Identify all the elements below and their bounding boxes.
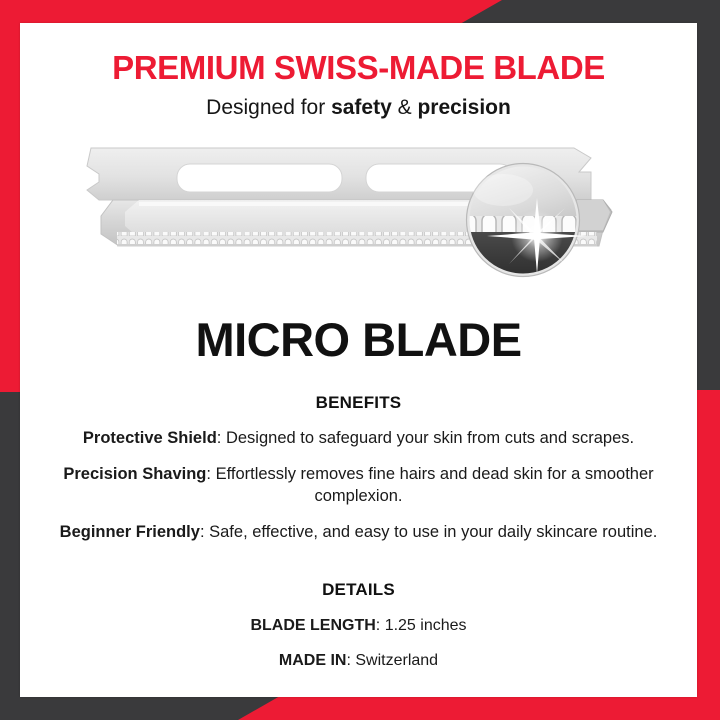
detail-item: MADE IN: Switzerland (20, 652, 697, 670)
benefit-text: Effortlessly removes fine hairs and dead… (216, 465, 654, 504)
benefit-text: Designed to safeguard your skin from cut… (226, 429, 634, 447)
benefits-heading: BENEFITS (20, 393, 697, 413)
subtitle-keyword-precision: precision (417, 96, 510, 119)
detail-separator: : (376, 617, 385, 634)
subtitle-keyword-safety: safety (331, 96, 392, 119)
benefit-item: Beginner Friendly: Safe, effective, and … (20, 522, 697, 543)
page-title: PREMIUM SWISS-MADE BLADE (20, 49, 697, 87)
detail-item: BLADE LENGTH: 1.25 inches (20, 617, 697, 635)
subtitle-prefix: Designed for (206, 96, 331, 119)
benefit-separator: : (200, 523, 209, 541)
benefit-separator: : (217, 429, 226, 447)
detail-value: Switzerland (355, 652, 438, 669)
background-red-left-bar (0, 0, 22, 392)
product-infographic-poster: PREMIUM SWISS-MADE BLADE Designed for sa… (0, 0, 720, 720)
background-red-right-bar (696, 390, 720, 720)
page-subtitle: Designed for safety & precision (20, 96, 697, 120)
micro-blade-icon (79, 138, 639, 288)
benefit-text: Safe, effective, and easy to use in your… (209, 523, 657, 541)
detail-value: 1.25 inches (385, 617, 467, 634)
benefit-label: Protective Shield (83, 429, 217, 447)
benefit-label: Precision Shaving (63, 465, 206, 483)
benefit-item: Precision Shaving: Effortlessly removes … (20, 464, 697, 507)
details-heading: DETAILS (20, 580, 697, 600)
blade-illustration-container (20, 138, 697, 290)
subtitle-ampersand: & (392, 96, 418, 119)
benefit-label: Beginner Friendly (60, 523, 200, 541)
detail-label: MADE IN (279, 652, 347, 669)
benefit-item: Protective Shield: Designed to safeguard… (20, 428, 697, 449)
background-dark-top-wedge (460, 0, 720, 24)
background-dark-left-bar (0, 380, 22, 720)
product-name: MICRO BLADE (20, 312, 697, 367)
content-card: PREMIUM SWISS-MADE BLADE Designed for sa… (20, 23, 697, 697)
benefit-separator: : (206, 465, 215, 483)
detail-label: BLADE LENGTH (250, 617, 375, 634)
background-dark-bottom-wedge (0, 696, 280, 720)
